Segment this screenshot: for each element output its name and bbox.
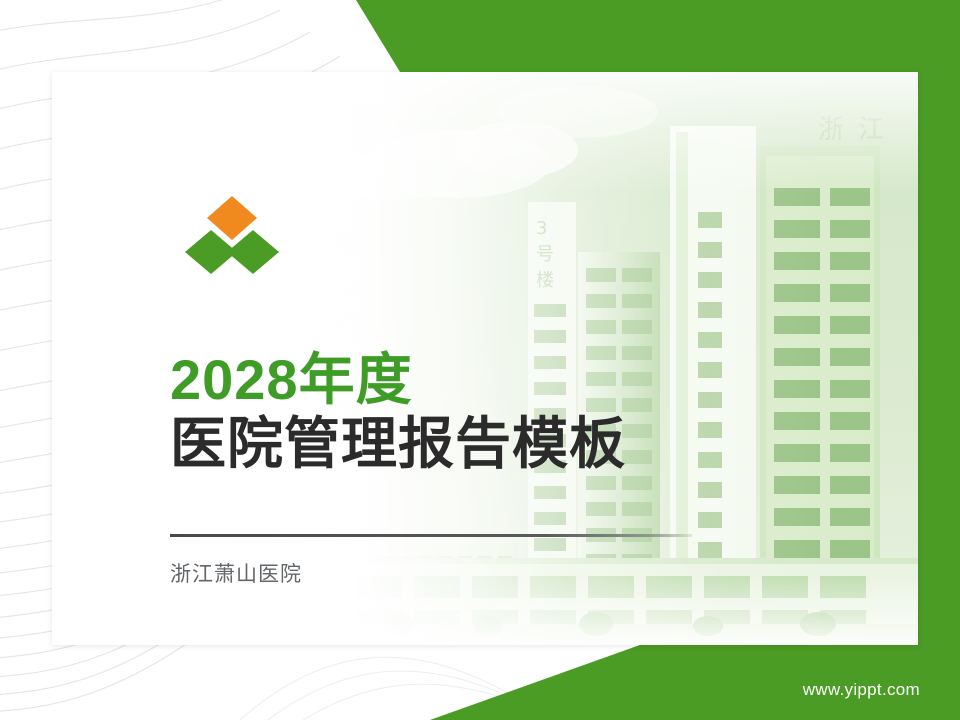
hospital-logo: [185, 194, 280, 279]
title-year: 2028年度: [170, 350, 626, 409]
title-block: 2028年度 医院管理报告模板: [170, 350, 626, 476]
site-watermark: www.yippt.com: [803, 680, 920, 700]
subtitle: 浙江萧山医院: [170, 558, 302, 588]
presentation-slide: 萧山 妇幼 保健: [0, 0, 960, 720]
title-divider: [170, 534, 692, 537]
slide-card: 萧山 妇幼 保健: [52, 72, 918, 645]
title-main: 医院管理报告模板: [170, 413, 626, 476]
